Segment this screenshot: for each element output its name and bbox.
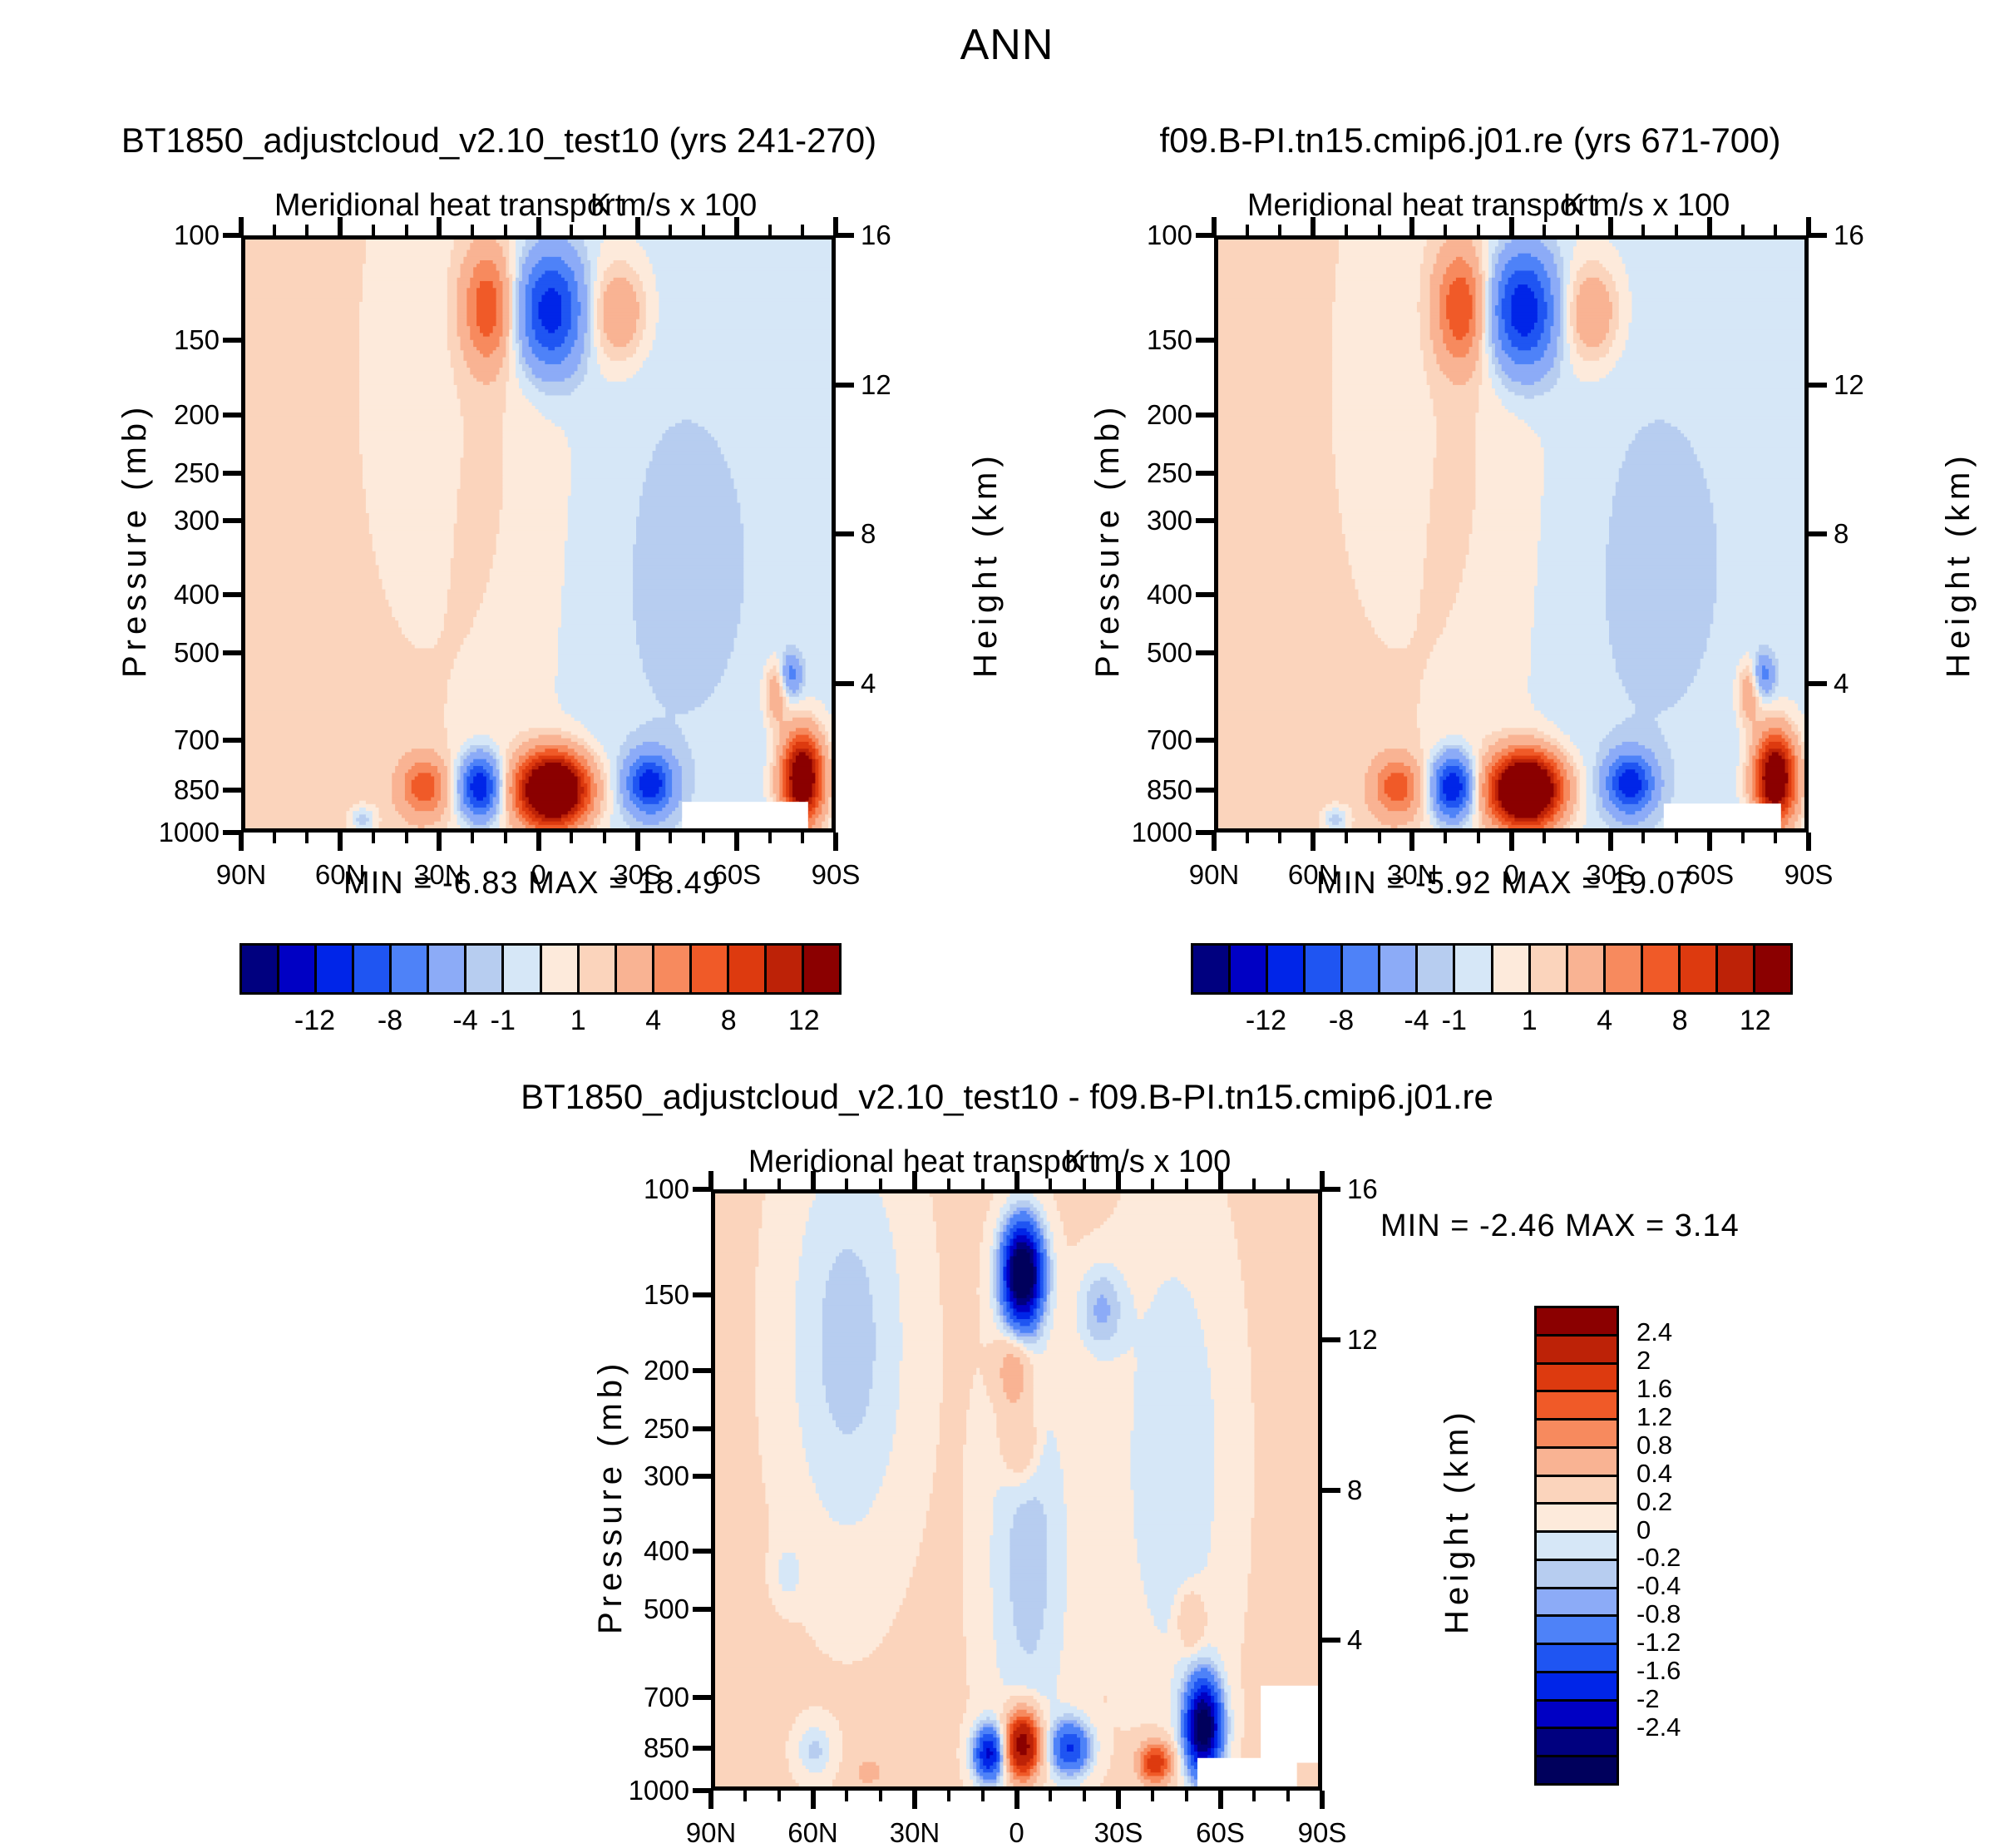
left-panel-lat-minor-0-2 (305, 833, 309, 843)
right-panel-contour-field (1218, 240, 1804, 828)
left-panel-lat-minor-top-3-2 (603, 225, 606, 235)
left-panel-lat-tick-90N: 90N (216, 861, 267, 888)
bottom-panel-lat-minor-top-2-1 (947, 1178, 950, 1189)
bottom-panel-lat-tick-mark-6 (1320, 1791, 1325, 1809)
left-panel-colorbar-cell-13 (729, 946, 767, 992)
bottom-panel-colorbar-label--0.2: -0.2 (1636, 1544, 1681, 1570)
bottom-panel-height-tick-16: 16 (1347, 1175, 1378, 1203)
bottom-panel-colorbar-label--1.2: -1.2 (1636, 1629, 1681, 1655)
left-panel-lat-tick-0: 0 (531, 861, 545, 888)
bottom-panel-pressure-tick-850: 850 (644, 1734, 689, 1762)
bottom-panel-colorbar-cell-16 (1537, 1757, 1617, 1783)
bottom-panel-height-axis-label: Height (km) (1439, 1407, 1476, 1634)
left-panel-lat-minor-top-4-1 (669, 225, 672, 235)
left-panel-lat-minor-top-0-2 (305, 225, 309, 235)
bottom-panel-colorbar (1534, 1306, 1619, 1786)
bottom-panel-colorbar-cell-8 (1537, 1533, 1617, 1561)
left-panel-subtitle: Meridional heat transport (274, 190, 624, 221)
bottom-panel-lat-minor-4-2 (1185, 1791, 1188, 1801)
bottom-panel-lat-minor-top-1-1 (845, 1178, 848, 1189)
right-panel-colorbar (1191, 943, 1793, 995)
right-panel-colorbar-cell-10 (1568, 946, 1606, 992)
bottom-panel-lat-minor-top-3-2 (1083, 1178, 1086, 1189)
left-panel-lat-tick-60S: 60S (712, 861, 761, 888)
bottom-panel-pressure-tick-mark-500 (693, 1607, 711, 1612)
right-panel-lat-tick-mark-2 (1409, 833, 1414, 851)
bottom-panel-colorbar-label-2.4: 2.4 (1636, 1319, 1672, 1345)
right-panel-lat-minor-top-5-2 (1774, 225, 1777, 235)
bottom-panel-pressure-tick-250: 250 (644, 1415, 689, 1442)
bottom-panel-lat-tick-30S: 30S (1094, 1819, 1143, 1846)
bottom-panel-plot (711, 1189, 1322, 1791)
left-panel-units: K m/s x 100 (590, 190, 758, 221)
left-panel-lat-tick-mark-4 (635, 833, 640, 851)
left-panel-lat-tick-mark-1 (338, 833, 343, 851)
bottom-panel-lat-minor-top-2-2 (981, 1178, 985, 1189)
bottom-panel-pressure-tick-mark-200 (693, 1368, 711, 1373)
bottom-panel-colorbar-label--2: -2 (1636, 1686, 1660, 1712)
right-panel-lat-minor-2-1 (1444, 833, 1447, 843)
left-panel-lat-minor-top-0-1 (273, 225, 276, 235)
bottom-panel-lat-tick-mark-5 (1218, 1791, 1223, 1809)
left-panel-lat-tick-top-0 (239, 217, 244, 235)
bottom-panel-lat-tick-mark-4 (1116, 1791, 1121, 1809)
bottom-panel-pressure-tick-mark-400 (693, 1549, 711, 1554)
right-panel-lat-tick-top-3 (1509, 217, 1514, 235)
bottom-panel-colorbar-cell-14 (1537, 1702, 1617, 1730)
bottom-panel-height-tick-4: 4 (1347, 1626, 1362, 1653)
left-panel-pressure-tick-mark-200 (223, 413, 241, 418)
right-panel-pressure-tick-850: 850 (1147, 776, 1192, 803)
right-panel-lat-minor-top-1-1 (1345, 225, 1348, 235)
right-panel-units: K m/s x 100 (1563, 190, 1730, 221)
bottom-panel-pressure-axis-label: Pressure (mb) (592, 1359, 629, 1634)
left-panel-colorbar-label-12: 12 (788, 1006, 820, 1035)
bottom-panel-colorbar-label-0: 0 (1636, 1517, 1651, 1543)
right-panel-lat-tick-top-2 (1409, 217, 1414, 235)
left-panel-lat-minor-top-1-1 (372, 225, 375, 235)
right-panel-colorbar-label-1: 1 (1522, 1006, 1538, 1035)
right-panel-lat-minor-2-2 (1477, 833, 1480, 843)
bottom-panel-pressure-tick-mark-150 (693, 1292, 711, 1297)
right-panel-colorbar-cell-5 (1380, 946, 1418, 992)
right-panel-pressure-tick-mark-400 (1196, 592, 1214, 597)
bottom-panel-lat-minor-4-1 (1151, 1791, 1154, 1801)
bottom-panel-lat-tick-mark-0 (708, 1791, 713, 1809)
bottom-panel-pressure-tick-100: 100 (644, 1175, 689, 1203)
bottom-panel-colorbar-label--0.8: -0.8 (1636, 1601, 1681, 1627)
left-panel-pressure-tick-mark-850 (223, 788, 241, 793)
left-panel-lat-minor-2-1 (471, 833, 474, 843)
left-panel-pressure-tick-100: 100 (174, 221, 220, 249)
bottom-panel-lat-minor-3-1 (1049, 1791, 1052, 1801)
left-panel-lat-tick-mark-0 (239, 833, 244, 851)
bottom-panel-lat-minor-5-2 (1286, 1791, 1290, 1801)
right-panel-lat-minor-top-4-1 (1641, 225, 1645, 235)
right-panel-colorbar-cell-3 (1306, 946, 1343, 992)
bottom-panel-pressure-tick-150: 150 (644, 1281, 689, 1308)
left-panel-height-tick-mark-16 (836, 233, 854, 238)
left-panel-lat-tick-90S: 90S (812, 861, 861, 888)
left-panel-colorbar-cell-3 (354, 946, 392, 992)
bottom-panel-height-tick-mark-8 (1322, 1488, 1340, 1493)
right-panel-colorbar-label--8: -8 (1329, 1006, 1354, 1035)
right-panel-lat-minor-top-3-1 (1543, 225, 1546, 235)
right-panel-colorbar-label--4: -4 (1404, 1006, 1429, 1035)
bottom-panel-lat-minor-top-1-2 (879, 1178, 882, 1189)
left-panel-lat-tick-mark-2 (437, 833, 442, 851)
left-panel-colorbar-cell-9 (580, 946, 617, 992)
bottom-panel-lat-tick-mark-1 (811, 1791, 816, 1809)
bottom-panel-colorbar-label-0.2: 0.2 (1636, 1489, 1672, 1514)
right-panel-lat-minor-4-2 (1675, 833, 1678, 843)
right-panel-height-tick-12: 12 (1834, 371, 1864, 398)
bottom-panel-lat-tick-90N: 90N (686, 1819, 737, 1846)
right-panel-lat-tick-mark-4 (1608, 833, 1613, 851)
right-panel-lat-tick-90N: 90N (1189, 861, 1240, 888)
left-panel-lat-minor-4-1 (669, 833, 672, 843)
right-panel-lat-minor-0-2 (1278, 833, 1281, 843)
right-panel-height-axis-label: Height (km) (1940, 451, 1977, 678)
left-panel-pressure-tick-400: 400 (174, 581, 220, 608)
right-panel-lat-minor-top-3-2 (1576, 225, 1579, 235)
left-panel-lat-tick-top-2 (437, 217, 442, 235)
left-panel-colorbar-cell-11 (654, 946, 692, 992)
bottom-panel-lat-tick-top-6 (1320, 1171, 1325, 1189)
bottom-panel-lat-minor-0-2 (777, 1791, 781, 1801)
right-panel-lat-tick-30S: 30S (1586, 861, 1635, 888)
right-panel-colorbar-label--12: -12 (1246, 1006, 1286, 1035)
left-panel-lat-minor-3-1 (570, 833, 573, 843)
left-panel-pressure-tick-mark-250 (223, 471, 241, 476)
right-panel-colorbar-cell-2 (1268, 946, 1306, 992)
left-panel-pressure-tick-mark-150 (223, 338, 241, 343)
right-panel-colorbar-label--1: -1 (1442, 1006, 1467, 1035)
right-panel-colorbar-cell-13 (1681, 946, 1718, 992)
right-panel-pressure-axis-label: Pressure (mb) (1089, 403, 1127, 678)
bottom-panel-lat-minor-top-5-2 (1286, 1178, 1290, 1189)
right-panel-pressure-tick-700: 700 (1147, 726, 1192, 754)
right-panel-lat-minor-top-5-1 (1741, 225, 1745, 235)
bottom-panel-height-tick-mark-12 (1322, 1337, 1340, 1342)
right-panel-lat-minor-1-2 (1378, 833, 1381, 843)
bottom-panel-colorbar-cell-13 (1537, 1673, 1617, 1702)
right-panel-pressure-tick-100: 100 (1147, 221, 1192, 249)
bottom-panel-subtitle: Meridional heat transport (748, 1146, 1098, 1178)
right-panel-lat-minor-5-1 (1741, 833, 1745, 843)
bottom-panel-lat-minor-top-5-1 (1252, 1178, 1256, 1189)
left-panel-height-tick-mark-8 (836, 531, 854, 536)
left-panel-lat-tick-top-1 (338, 217, 343, 235)
bottom-panel-lat-tick-60S: 60S (1196, 1819, 1245, 1846)
right-panel-lat-tick-30N: 30N (1387, 861, 1438, 888)
bottom-panel-units: K m/s x 100 (1064, 1146, 1232, 1178)
right-panel-lat-minor-3-2 (1576, 833, 1579, 843)
right-panel-height-tick-4: 4 (1834, 670, 1849, 697)
left-panel-lat-minor-1-2 (405, 833, 408, 843)
bottom-panel-pressure-tick-1000: 1000 (629, 1776, 689, 1804)
left-panel-pressure-axis-label: Pressure (mb) (116, 403, 154, 678)
right-panel-lat-minor-3-1 (1543, 833, 1546, 843)
right-panel-colorbar-cell-15 (1755, 946, 1790, 992)
left-panel-colorbar-cell-10 (617, 946, 654, 992)
right-panel-lat-minor-top-0-1 (1246, 225, 1249, 235)
bottom-panel-pressure-tick-300: 300 (644, 1462, 689, 1490)
bottom-panel-colorbar-label-1.2: 1.2 (1636, 1404, 1672, 1430)
bottom-panel-colorbar-label--1.6: -1.6 (1636, 1658, 1681, 1683)
left-panel-pressure-tick-150: 150 (174, 326, 220, 353)
left-panel-colorbar-cell-7 (504, 946, 541, 992)
bottom-panel-colorbar-cell-7 (1537, 1505, 1617, 1533)
left-panel-colorbar-label-8: 8 (721, 1006, 737, 1035)
right-panel-lat-tick-mark-3 (1509, 833, 1514, 851)
bottom-panel-colorbar-cell-0 (1537, 1308, 1617, 1337)
bottom-panel-lat-tick-top-2 (912, 1171, 917, 1189)
bottom-panel-height-tick-mark-16 (1322, 1187, 1340, 1192)
right-panel-pressure-tick-1000: 1000 (1132, 818, 1192, 846)
right-panel-plot (1214, 235, 1809, 833)
bottom-panel-colorbar-cell-1 (1537, 1337, 1617, 1365)
right-panel-lat-tick-mark-6 (1806, 833, 1811, 851)
bottom-panel-lat-minor-2-2 (981, 1791, 985, 1801)
bottom-panel-colorbar-cell-10 (1537, 1589, 1617, 1618)
bottom-panel-lat-minor-top-4-1 (1151, 1178, 1154, 1189)
left-panel-title: BT1850_adjustcloud_v2.10_test10 (yrs 241… (121, 123, 876, 158)
left-panel-plot (241, 235, 836, 833)
left-panel-pressure-tick-300: 300 (174, 506, 220, 534)
left-panel-colorbar-cell-14 (767, 946, 804, 992)
right-panel-colorbar-cell-0 (1193, 946, 1231, 992)
right-panel-pressure-tick-250: 250 (1147, 459, 1192, 487)
left-panel-colorbar-label-1: 1 (570, 1006, 586, 1035)
right-panel-pressure-tick-150: 150 (1147, 326, 1192, 353)
bottom-panel-colorbar-cell-5 (1537, 1449, 1617, 1477)
left-panel-lat-minor-5-2 (801, 833, 804, 843)
bottom-panel-height-tick-12: 12 (1347, 1326, 1378, 1353)
left-panel-colorbar-cell-15 (804, 946, 839, 992)
bottom-panel-lat-tick-top-1 (811, 1171, 816, 1189)
right-panel-lat-tick-60N: 60N (1288, 861, 1339, 888)
bottom-panel-lat-minor-2-1 (947, 1791, 950, 1801)
right-panel-colorbar-cell-6 (1418, 946, 1455, 992)
left-panel-lat-minor-top-3-1 (570, 225, 573, 235)
left-panel-pressure-tick-mark-400 (223, 592, 241, 597)
right-panel-pressure-tick-mark-700 (1196, 738, 1214, 743)
right-panel-lat-minor-0-1 (1246, 833, 1249, 843)
bottom-panel-pressure-tick-mark-700 (693, 1695, 711, 1700)
left-panel-lat-minor-2-2 (504, 833, 507, 843)
left-panel-height-axis-label: Height (km) (967, 451, 1005, 678)
left-panel-colorbar-cell-8 (542, 946, 580, 992)
figure-suptitle: ANN (960, 23, 1054, 67)
left-panel-colorbar-cell-0 (242, 946, 279, 992)
right-panel-subtitle: Meridional heat transport (1247, 190, 1597, 221)
left-panel-colorbar-label-4: 4 (645, 1006, 661, 1035)
left-panel-colorbar-cell-12 (692, 946, 729, 992)
right-panel-height-tick-mark-4 (1809, 681, 1827, 686)
bottom-panel-colorbar-label-2: 2 (1636, 1347, 1651, 1373)
bottom-panel-colorbar-label-0.4: 0.4 (1636, 1460, 1672, 1486)
bottom-panel-pressure-tick-mark-850 (693, 1746, 711, 1751)
bottom-panel-lat-tick-0: 0 (1009, 1819, 1024, 1846)
right-panel-lat-tick-90S: 90S (1784, 861, 1834, 888)
left-panel-pressure-tick-250: 250 (174, 459, 220, 487)
right-panel-colorbar-label-4: 4 (1597, 1006, 1612, 1035)
bottom-panel-height-tick-mark-4 (1322, 1638, 1340, 1643)
right-panel-lat-tick-top-5 (1707, 217, 1712, 235)
right-panel-pressure-tick-mark-500 (1196, 650, 1214, 655)
left-panel-lat-minor-5-1 (768, 833, 772, 843)
right-panel-lat-tick-60S: 60S (1685, 861, 1734, 888)
left-panel-colorbar-label--12: -12 (294, 1006, 335, 1035)
left-panel-lat-tick-top-4 (635, 217, 640, 235)
bottom-panel-colorbar-cell-9 (1537, 1561, 1617, 1589)
left-panel-height-tick-12: 12 (861, 371, 891, 398)
bottom-panel-height-tick-8: 8 (1347, 1476, 1362, 1504)
left-panel-lat-minor-0-1 (273, 833, 276, 843)
left-panel-lat-minor-top-5-2 (801, 225, 804, 235)
bottom-panel-pressure-tick-mark-250 (693, 1426, 711, 1431)
figure-root: ANN BT1850_adjustcloud_v2.10_test10 (yrs… (0, 0, 2014, 1832)
left-panel-lat-tick-mark-6 (833, 833, 838, 851)
bottom-panel-lat-tick-mark-2 (912, 1791, 917, 1809)
left-panel-pressure-tick-200: 200 (174, 401, 220, 428)
right-panel-colorbar-cell-8 (1493, 946, 1531, 992)
left-panel-lat-minor-top-1-2 (405, 225, 408, 235)
bottom-panel-lat-minor-top-4-2 (1185, 1178, 1188, 1189)
right-panel-pressure-tick-mark-850 (1196, 788, 1214, 793)
bottom-panel-pressure-tick-mark-300 (693, 1474, 711, 1479)
right-panel-pressure-tick-mark-300 (1196, 518, 1214, 523)
left-panel-lat-tick-top-5 (734, 217, 739, 235)
bottom-panel-lat-minor-1-1 (845, 1791, 848, 1801)
bottom-panel-lat-tick-30N: 30N (890, 1819, 940, 1846)
right-panel-lat-minor-top-2-2 (1477, 225, 1480, 235)
bottom-panel-colorbar-label-1.6: 1.6 (1636, 1376, 1672, 1401)
bottom-panel-lat-minor-top-0-1 (743, 1178, 747, 1189)
bottom-panel-colorbar-cell-4 (1537, 1421, 1617, 1449)
right-panel-height-tick-16: 16 (1834, 221, 1864, 249)
left-panel-colorbar-label--8: -8 (378, 1006, 402, 1035)
right-panel-height-tick-8: 8 (1834, 520, 1849, 547)
right-panel-lat-tick-top-6 (1806, 217, 1811, 235)
right-panel-colorbar-cell-1 (1231, 946, 1268, 992)
bottom-panel-colorbar-cell-2 (1537, 1365, 1617, 1393)
bottom-panel-contour-field (715, 1193, 1318, 1786)
bottom-panel-lat-minor-0-1 (743, 1791, 747, 1801)
bottom-panel-minmax: MIN = -2.46 MAX = 3.14 (1380, 1210, 1740, 1242)
right-panel-pressure-tick-300: 300 (1147, 506, 1192, 534)
left-panel-pressure-tick-500: 500 (174, 639, 220, 666)
bottom-panel-colorbar-cell-11 (1537, 1617, 1617, 1645)
right-panel-pressure-tick-500: 500 (1147, 639, 1192, 666)
left-panel-lat-minor-top-5-1 (768, 225, 772, 235)
left-panel-lat-minor-1-1 (372, 833, 375, 843)
right-panel-pressure-tick-200: 200 (1147, 401, 1192, 428)
left-panel-height-tick-mark-12 (836, 383, 854, 388)
bottom-panel-colorbar-label--0.4: -0.4 (1636, 1573, 1681, 1598)
bottom-panel-lat-tick-60N: 60N (787, 1819, 838, 1846)
left-panel-lat-tick-mark-5 (734, 833, 739, 851)
left-panel-lat-tick-top-3 (536, 217, 541, 235)
right-panel-title: f09.B-PI.tn15.cmip6.j01.re (yrs 671-700) (1159, 123, 1780, 158)
left-panel-colorbar-label--1: -1 (491, 1006, 516, 1035)
right-panel-lat-minor-1-1 (1345, 833, 1348, 843)
bottom-panel-lat-tick-mark-3 (1014, 1791, 1019, 1809)
left-panel-lat-minor-top-2-2 (504, 225, 507, 235)
left-panel-lat-tick-mark-3 (536, 833, 541, 851)
right-panel-colorbar-cell-11 (1606, 946, 1643, 992)
left-panel-colorbar-cell-5 (429, 946, 466, 992)
left-panel-pressure-tick-1000: 1000 (159, 818, 220, 846)
left-panel-lat-minor-top-4-2 (702, 225, 705, 235)
bottom-panel-lat-tick-top-4 (1116, 1171, 1121, 1189)
bottom-panel-pressure-tick-700: 700 (644, 1683, 689, 1711)
right-panel-colorbar-cell-9 (1531, 946, 1568, 992)
right-panel-lat-tick-top-1 (1311, 217, 1316, 235)
right-panel-lat-minor-top-0-2 (1278, 225, 1281, 235)
left-panel-colorbar (239, 943, 842, 995)
bottom-panel-lat-tick-top-5 (1218, 1171, 1223, 1189)
left-panel-height-tick-mark-4 (836, 681, 854, 686)
bottom-panel-lat-minor-5-1 (1252, 1791, 1256, 1801)
right-panel-lat-tick-mark-0 (1212, 833, 1217, 851)
bottom-panel-colorbar-label-0.8: 0.8 (1636, 1432, 1672, 1458)
left-panel-colorbar-cell-2 (317, 946, 354, 992)
right-panel-lat-tick-top-0 (1212, 217, 1217, 235)
right-panel-colorbar-cell-14 (1718, 946, 1755, 992)
right-panel-lat-tick-mark-5 (1707, 833, 1712, 851)
bottom-panel-pressure-tick-500: 500 (644, 1595, 689, 1623)
right-panel-lat-tick-mark-1 (1311, 833, 1316, 851)
right-panel-pressure-tick-mark-250 (1196, 471, 1214, 476)
left-panel-colorbar-cell-4 (392, 946, 429, 992)
right-panel-lat-minor-top-1-2 (1378, 225, 1381, 235)
right-panel-pressure-tick-400: 400 (1147, 581, 1192, 608)
left-panel-lat-minor-3-2 (603, 833, 606, 843)
left-panel-pressure-tick-850: 850 (174, 776, 220, 803)
bottom-panel-lat-tick-top-3 (1014, 1171, 1019, 1189)
left-panel-height-tick-16: 16 (861, 221, 891, 249)
right-panel-colorbar-label-12: 12 (1740, 1006, 1771, 1035)
bottom-panel-colorbar-label--2.4: -2.4 (1636, 1714, 1681, 1740)
right-panel-height-tick-mark-8 (1809, 531, 1827, 536)
left-panel-lat-tick-30S: 30S (613, 861, 662, 888)
left-panel-contour-field (245, 240, 832, 828)
bottom-panel-lat-minor-top-3-1 (1049, 1178, 1052, 1189)
left-panel-colorbar-label--4: -4 (452, 1006, 477, 1035)
bottom-panel-lat-tick-90S: 90S (1298, 1819, 1347, 1846)
right-panel-colorbar-label-8: 8 (1672, 1006, 1688, 1035)
left-panel-colorbar-cell-1 (279, 946, 317, 992)
bottom-panel-colorbar-cell-12 (1537, 1645, 1617, 1673)
right-panel-lat-minor-4-1 (1641, 833, 1645, 843)
bottom-panel-title: BT1850_adjustcloud_v2.10_test10 - f09.B-… (521, 1080, 1493, 1114)
right-panel-pressure-tick-mark-150 (1196, 338, 1214, 343)
left-panel-pressure-tick-700: 700 (174, 726, 220, 754)
right-panel-lat-minor-top-4-2 (1675, 225, 1678, 235)
right-panel-pressure-tick-mark-200 (1196, 413, 1214, 418)
left-panel-height-tick-4: 4 (861, 670, 876, 697)
right-panel-colorbar-cell-12 (1643, 946, 1681, 992)
bottom-panel-lat-minor-3-2 (1083, 1791, 1086, 1801)
right-panel-colorbar-cell-4 (1343, 946, 1380, 992)
right-panel-colorbar-cell-7 (1455, 946, 1493, 992)
right-panel-lat-tick-top-4 (1608, 217, 1613, 235)
right-panel-height-tick-mark-16 (1809, 233, 1827, 238)
bottom-panel-lat-minor-1-2 (879, 1791, 882, 1801)
left-panel-colorbar-cell-6 (466, 946, 504, 992)
